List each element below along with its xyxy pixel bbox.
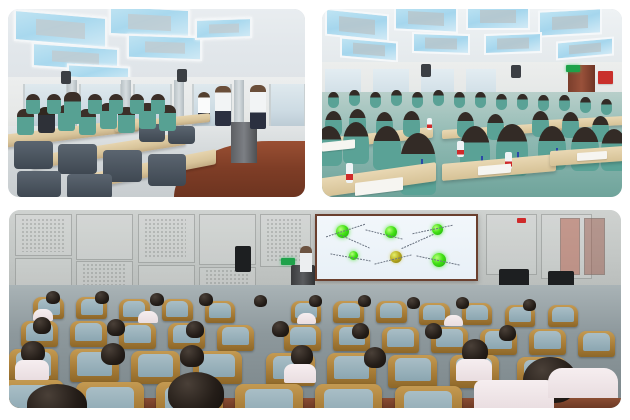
seated-student bbox=[454, 92, 465, 108]
seated-student bbox=[47, 94, 61, 114]
wall-speaker bbox=[61, 71, 71, 84]
chair bbox=[148, 154, 187, 186]
audience-torso-foreground bbox=[474, 380, 554, 408]
chair bbox=[58, 144, 97, 174]
photo-bottom-auditorium[interactable] bbox=[9, 210, 621, 408]
speaker-tower bbox=[235, 246, 251, 272]
ceiling-panel bbox=[195, 17, 252, 40]
wall-speaker bbox=[421, 64, 431, 77]
wall-speaker bbox=[511, 65, 521, 78]
chair bbox=[14, 141, 53, 169]
window bbox=[269, 84, 305, 129]
audience-head bbox=[254, 295, 267, 307]
audience-head bbox=[364, 347, 386, 368]
ceiling-panel bbox=[412, 32, 470, 55]
auditorium-seat-foreground bbox=[315, 384, 382, 408]
presenter bbox=[215, 86, 231, 126]
audience-head bbox=[21, 341, 45, 363]
audience-torso bbox=[444, 315, 463, 326]
wall-emblem bbox=[598, 71, 613, 84]
chair bbox=[17, 171, 62, 197]
presenter bbox=[250, 85, 266, 129]
audience-head bbox=[499, 325, 516, 341]
audience-head bbox=[150, 293, 164, 306]
audience-torso bbox=[284, 364, 316, 383]
audience-head bbox=[180, 345, 204, 367]
seated-student bbox=[580, 97, 591, 113]
water-bottle bbox=[457, 141, 464, 157]
auditorium-scene bbox=[9, 210, 621, 408]
chair bbox=[67, 174, 112, 197]
seated-student-foreground bbox=[373, 126, 401, 170]
standing-student bbox=[64, 92, 81, 124]
audience-head bbox=[523, 299, 536, 311]
audience-head bbox=[456, 297, 469, 309]
auditorium-seat bbox=[548, 305, 579, 327]
perforation-texture bbox=[144, 218, 187, 258]
auditorium-seat bbox=[376, 301, 407, 323]
auditorium-seat bbox=[578, 331, 615, 357]
seated-student bbox=[109, 94, 123, 114]
audience-head bbox=[101, 343, 125, 365]
audience-head bbox=[425, 323, 442, 339]
perforation-texture bbox=[266, 218, 303, 262]
audience-torso-foreground bbox=[548, 368, 618, 398]
audience-head bbox=[46, 291, 60, 304]
wall-stripe bbox=[560, 218, 580, 275]
audience-torso bbox=[456, 359, 492, 381]
audience-head bbox=[309, 295, 322, 307]
audience-head bbox=[358, 295, 371, 307]
audience-head bbox=[95, 291, 109, 304]
seated-student bbox=[26, 94, 40, 114]
audience-head bbox=[291, 345, 313, 366]
seated-student bbox=[130, 94, 144, 114]
audience-head bbox=[186, 321, 204, 338]
audience-head-foreground bbox=[168, 372, 224, 408]
seated-student bbox=[412, 92, 423, 108]
auditorium-seat bbox=[388, 355, 437, 389]
seated-student bbox=[475, 92, 486, 108]
seated-student bbox=[88, 94, 102, 114]
audience-head bbox=[352, 323, 369, 339]
seminar-room-scene bbox=[8, 9, 305, 197]
ceiling-panel bbox=[538, 9, 602, 37]
audience-torso bbox=[138, 311, 158, 323]
fire-alarm-icon bbox=[517, 218, 526, 223]
seated-student bbox=[349, 90, 360, 106]
auditorium-seat bbox=[529, 329, 566, 355]
photo-top-right[interactable] bbox=[322, 9, 622, 197]
molecule-chain bbox=[340, 235, 369, 249]
auditorium-seat bbox=[162, 299, 193, 321]
audience-torso bbox=[297, 313, 316, 324]
ceiling-panel bbox=[394, 9, 458, 33]
water-bottle bbox=[346, 163, 353, 183]
seated-student bbox=[496, 94, 507, 110]
seated-student bbox=[151, 94, 165, 114]
wall-speaker bbox=[177, 69, 187, 82]
audience-head bbox=[33, 317, 51, 334]
audience-head bbox=[107, 319, 125, 336]
seated-student bbox=[370, 92, 381, 108]
auditorium-seat bbox=[382, 327, 419, 353]
classroom-scene bbox=[322, 9, 622, 197]
seated-student bbox=[391, 90, 402, 106]
seated-student bbox=[559, 95, 570, 111]
audience-head bbox=[199, 293, 213, 306]
seated-student bbox=[517, 94, 528, 110]
auditorium-seat-foreground bbox=[395, 386, 462, 408]
water-bottle bbox=[427, 118, 432, 130]
photo-collage: Academic lecture event photo collage bbox=[0, 0, 630, 420]
auditorium-seat bbox=[217, 325, 254, 351]
presenter bbox=[300, 246, 312, 272]
ceiling-panel bbox=[127, 34, 202, 61]
projection-screen bbox=[315, 214, 478, 281]
ceiling-panel bbox=[466, 9, 530, 30]
auditorium-seat bbox=[70, 321, 107, 347]
acoustic-panel bbox=[486, 214, 537, 275]
ceiling-panel bbox=[484, 32, 542, 55]
seated-student bbox=[328, 92, 339, 108]
seated-student bbox=[601, 99, 612, 115]
audience-head bbox=[272, 321, 289, 337]
perforation-texture bbox=[21, 218, 64, 252]
auditorium-seat-foreground bbox=[235, 384, 302, 408]
seated-student bbox=[538, 95, 549, 111]
audience-torso bbox=[15, 360, 49, 380]
seated-student bbox=[433, 90, 444, 106]
acoustic-panel bbox=[76, 214, 133, 260]
audience-head bbox=[407, 297, 420, 309]
wall-stripe bbox=[584, 218, 604, 275]
photo-top-left[interactable] bbox=[8, 9, 305, 197]
exit-sign-icon bbox=[281, 258, 295, 265]
exit-sign-icon bbox=[566, 65, 580, 72]
molecule-chain bbox=[401, 234, 433, 249]
